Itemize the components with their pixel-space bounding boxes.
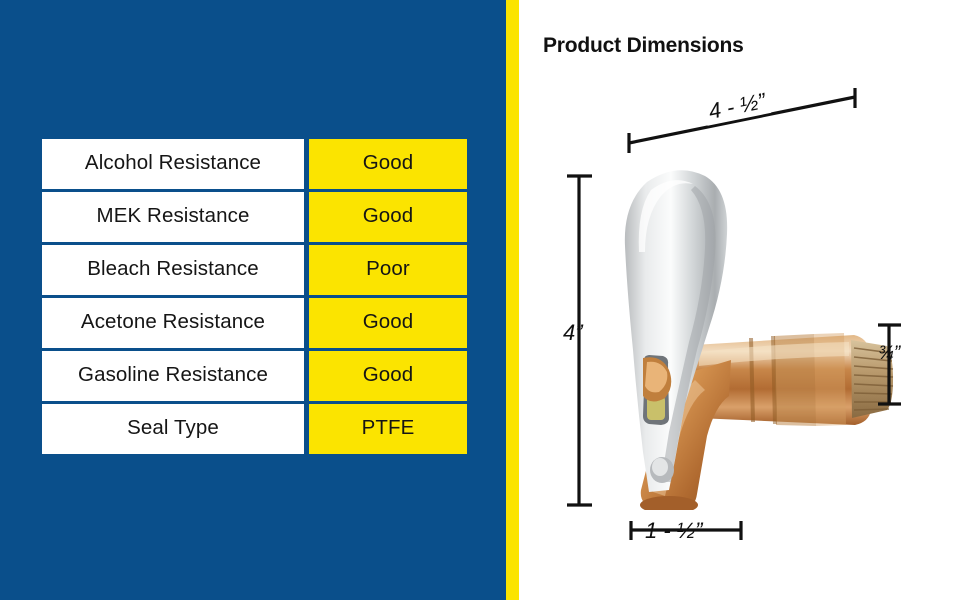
yellow-divider-stripe: [506, 0, 519, 600]
dimension-lines: [519, 0, 970, 600]
spec-value: Good: [309, 351, 467, 401]
dimension-label-bottom: 1 - ½”: [645, 518, 702, 544]
specification-table: Alcohol Resistance Good MEK Resistance G…: [42, 139, 467, 454]
spec-value: Good: [309, 192, 467, 242]
product-spec-sheet: Alcohol Resistance Good MEK Resistance G…: [0, 0, 970, 600]
spec-label: MEK Resistance: [42, 192, 304, 242]
dimension-label-left: 4”: [563, 320, 583, 346]
spec-value: Poor: [309, 245, 467, 295]
spec-label: Alcohol Resistance: [42, 139, 304, 189]
spec-value: PTFE: [309, 404, 467, 454]
table-row: Seal Type PTFE: [42, 404, 467, 454]
spec-value: Good: [309, 298, 467, 348]
spec-label: Bleach Resistance: [42, 245, 304, 295]
dimension-label-right: ¾”: [878, 343, 900, 365]
table-row: Gasoline Resistance Good: [42, 351, 467, 401]
spec-value: Good: [309, 139, 467, 189]
right-white-panel: Product Dimensions: [519, 0, 970, 600]
spec-label: Acetone Resistance: [42, 298, 304, 348]
spec-label: Seal Type: [42, 404, 304, 454]
table-row: Acetone Resistance Good: [42, 298, 467, 348]
spec-label: Gasoline Resistance: [42, 351, 304, 401]
table-row: MEK Resistance Good: [42, 192, 467, 242]
table-row: Bleach Resistance Poor: [42, 245, 467, 295]
table-row: Alcohol Resistance Good: [42, 139, 467, 189]
